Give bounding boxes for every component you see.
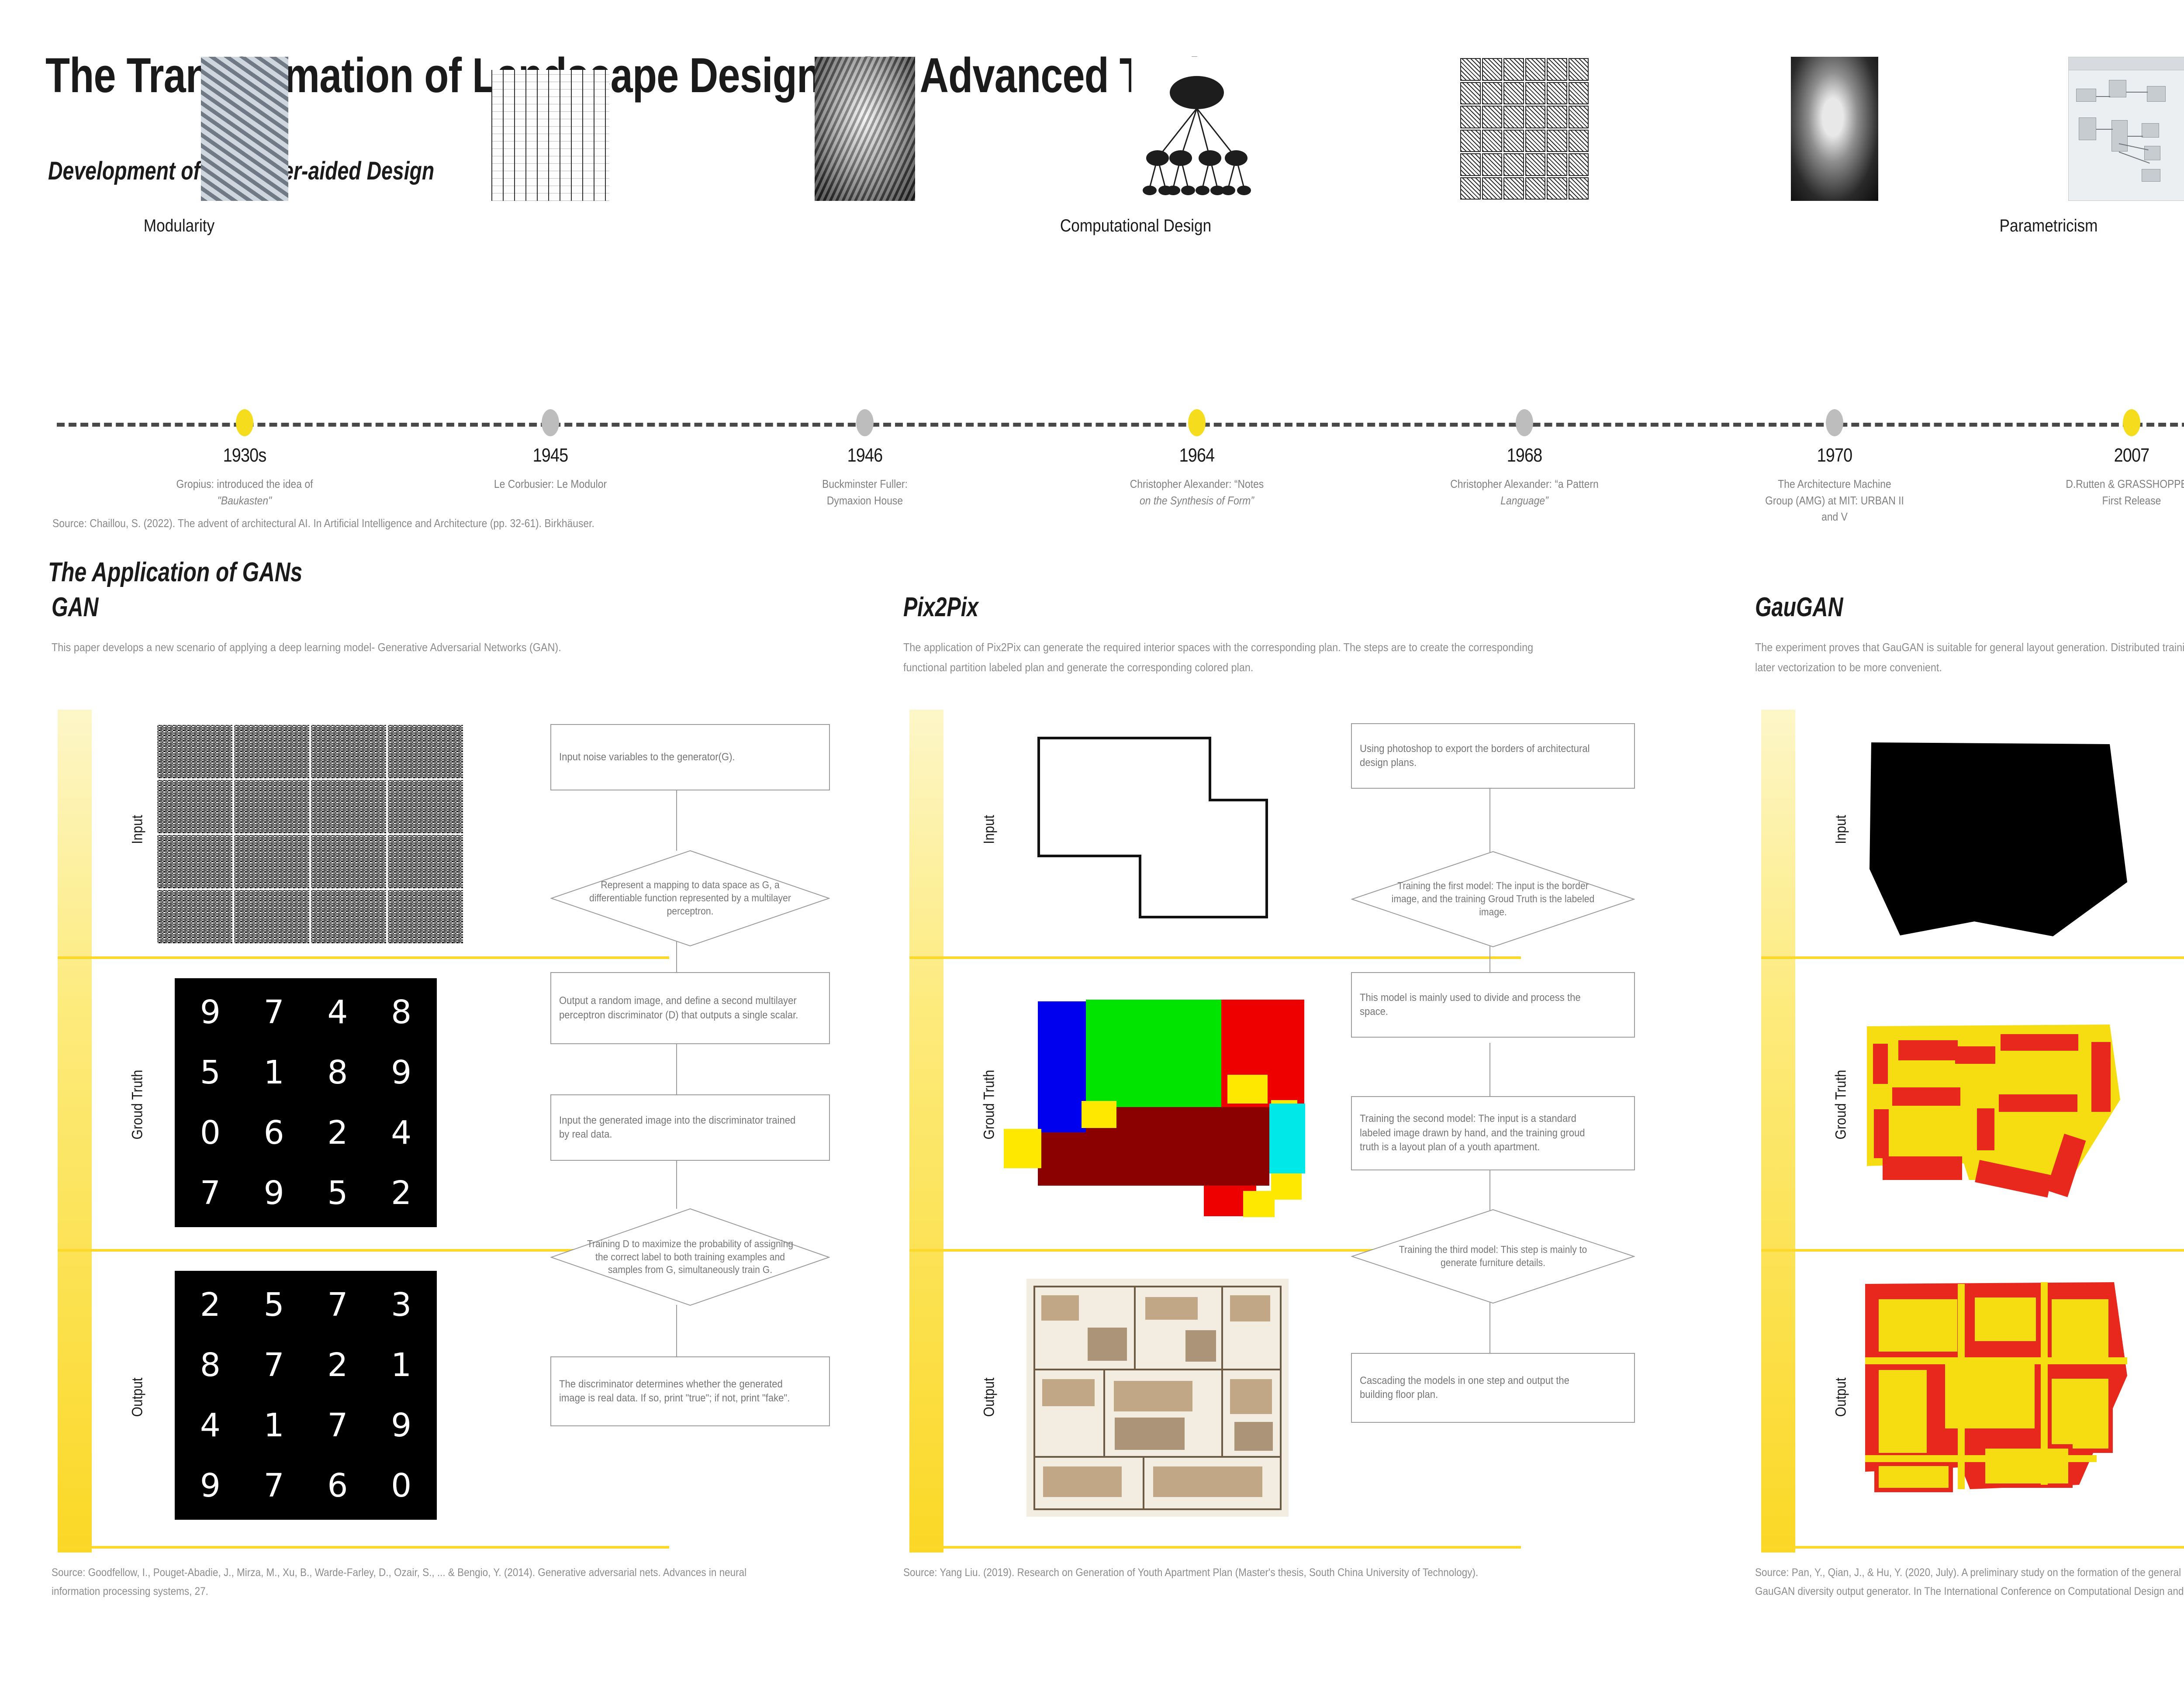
image-random-noise-tiles — [157, 725, 463, 943]
column-gaugan: GauGAN The experiment proves that GauGAN… — [1752, 0, 2184, 1687]
flow-step-box[interactable]: Output a random image, and define a seco… — [550, 972, 830, 1044]
flow-step-box[interactable]: This model is mainly used to divide and … — [1351, 972, 1635, 1038]
flow-step-box[interactable]: Input the generated image into the discr… — [550, 1094, 830, 1161]
row-label-ground-truth: Groud Truth — [981, 1066, 998, 1143]
flow-step-box[interactable]: Using photoshop to export the borders of… — [1351, 723, 1635, 789]
row-label-input: Input — [129, 791, 146, 868]
column-description: The experiment proves that GauGAN is sui… — [1755, 638, 2184, 677]
flowchart-gan: Input noise variables to the generator(G… — [524, 720, 830, 1549]
flow-step-box[interactable]: Cascading the models in one step and out… — [1351, 1353, 1635, 1423]
column-description: This paper develops a new scenario of ap… — [52, 638, 728, 658]
image-yellow-site-with-red-building-bars — [1852, 983, 2149, 1227]
flow-step-box[interactable]: Training the second model: The input is … — [1351, 1096, 1635, 1170]
image-mnist-digit-grid-generated: 2 5 7 3 8 7 2 1 4 1 7 9 9 7 6 0 — [175, 1271, 437, 1520]
flow-step-box[interactable]: Input noise variables to the generator(G… — [550, 724, 830, 790]
flowchart-pix2pix-steps: Using photoshop to export the borders of… — [1330, 720, 1645, 1549]
row-label-output: Output — [129, 1359, 146, 1436]
mnist-output-grid: 2 5 7 3 8 7 2 1 4 1 7 9 9 7 6 0 — [175, 1271, 437, 1520]
image-rendered-furnished-floor-plan — [1009, 1266, 1306, 1528]
flow-step-diamond[interactable]: Represent a mapping to data space as G, … — [550, 850, 830, 947]
mnist-ground-truth-grid: 9 7 4 8 5 1 8 9 0 6 2 4 7 9 5 2 — [175, 978, 437, 1227]
image-generated-site-layout-with-roads — [1852, 1266, 2149, 1528]
image-color-coded-room-partition-plan — [1000, 976, 1315, 1229]
accent-bar — [1761, 710, 1795, 1552]
flowchart-gaugan-steps: Take the out-of-plane contour as the inp… — [2171, 720, 2184, 1549]
row-label-input: Input — [1833, 791, 1850, 868]
flow-step-diamond[interactable]: Training D to maximize the probability o… — [550, 1208, 830, 1306]
flow-step-diamond[interactable]: Training the first model: The input is t… — [1351, 851, 1635, 948]
image-mnist-digit-grid-real: 9 7 4 8 5 1 8 9 0 6 2 4 7 9 5 2 — [175, 978, 437, 1227]
column-description: The application of Pix2Pix can generate … — [903, 638, 1579, 677]
row-label-ground-truth: Groud Truth — [1833, 1066, 1850, 1143]
accent-bar — [909, 710, 943, 1552]
row-label-output: Output — [981, 1359, 998, 1436]
column-title: GAN — [52, 592, 98, 623]
column-gan: GAN This paper develops a new scenario o… — [48, 0, 891, 1687]
flow-step-diamond[interactable]: Training the third model: This step is m… — [1351, 1209, 1635, 1304]
flow-step-box[interactable]: The discriminator determines whether the… — [550, 1356, 830, 1426]
column-source: Source: Yang Liu. (2019). Research on Ge… — [903, 1563, 1607, 1582]
image-apartment-outline-wireframe — [1022, 725, 1293, 943]
column-title: Pix2Pix — [903, 592, 978, 623]
row-label-input: Input — [981, 791, 998, 868]
row-label-output: Output — [1833, 1359, 1850, 1436]
column-source: Source: Pan, Y., Qian, J., & Hu, Y. (202… — [1755, 1563, 2184, 1601]
column-source: Source: Goodfellow, I., Pouget-Abadie, J… — [52, 1563, 755, 1601]
accent-bar — [58, 710, 92, 1552]
row-label-ground-truth: Groud Truth — [129, 1066, 146, 1143]
image-black-site-boundary-silhouette — [1865, 738, 2136, 948]
column-title: GauGAN — [1755, 592, 1843, 623]
